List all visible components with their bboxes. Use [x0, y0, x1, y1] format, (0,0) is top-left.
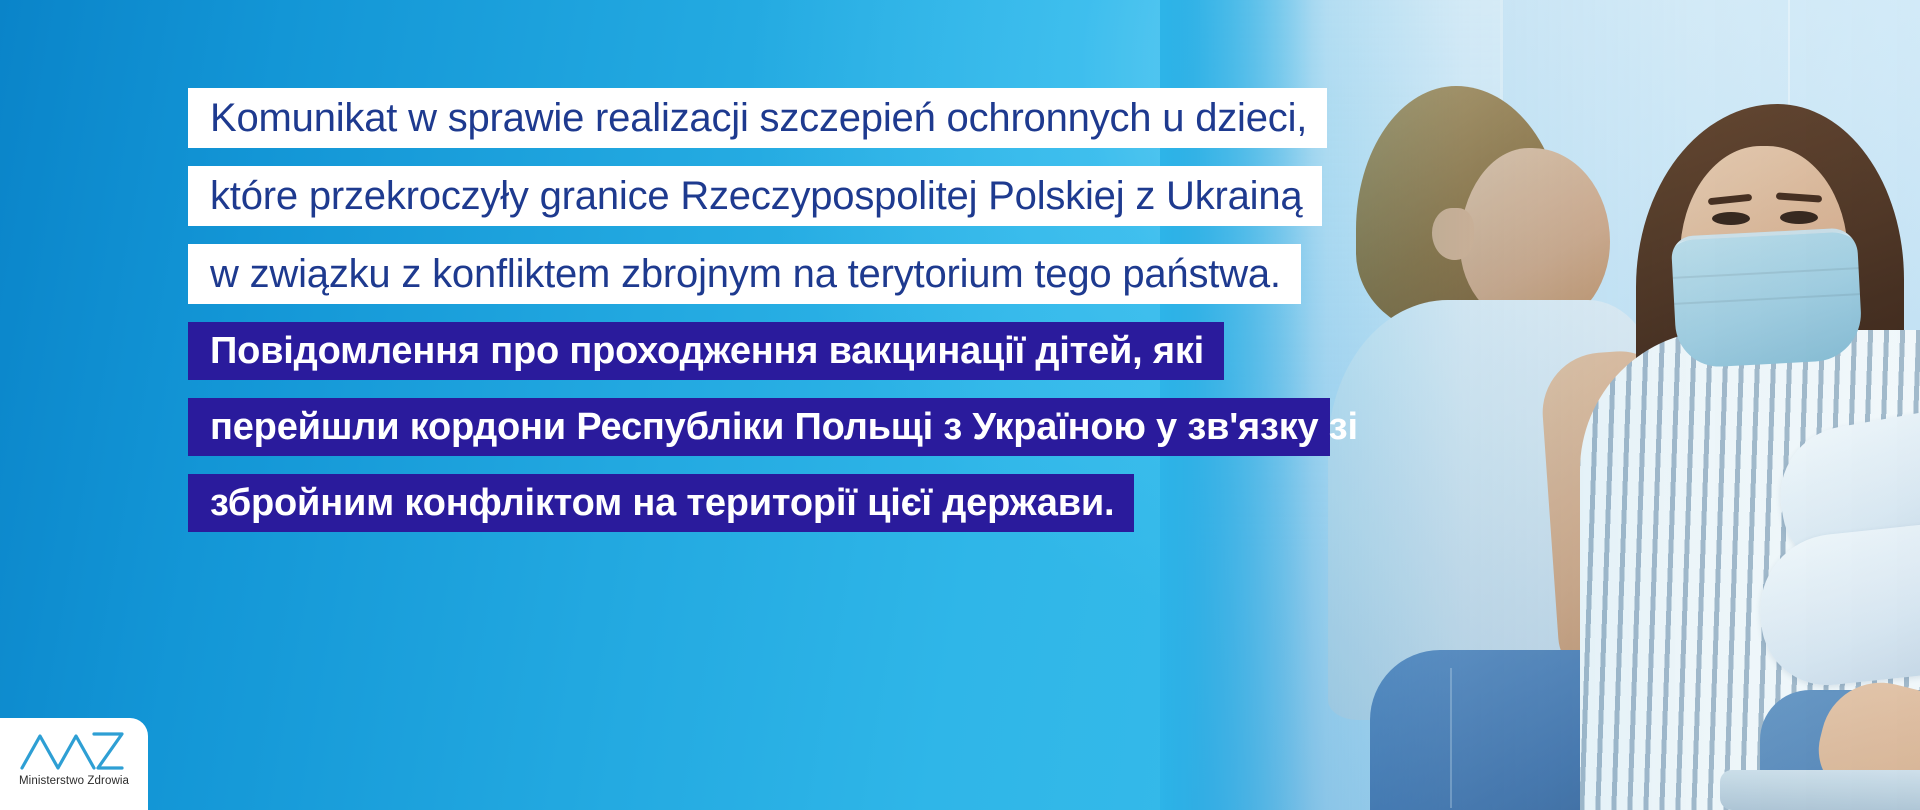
ukrainian-line-1: Повідомлення про проходження вакцинації …	[188, 322, 1224, 380]
announcement-text-block: Komunikat w sprawie realizacji szczepień…	[188, 88, 1308, 532]
ukrainian-line-3: збройним конфліктом на території цієї де…	[188, 474, 1134, 532]
polish-line-1: Komunikat w sprawie realizacji szczepień…	[188, 88, 1327, 148]
ukrainian-line-2: перейшли кордони Республіки Польщі з Укр…	[188, 398, 1330, 456]
vaccination-announcement-banner: Komunikat w sprawie realizacji szczepień…	[0, 0, 1920, 810]
polish-line-2: które przekroczyły granice Rzeczypospoli…	[188, 166, 1322, 226]
ministry-logo-card: Ministerstwo Zdrowia	[0, 718, 148, 810]
mz-logo-icon	[18, 728, 130, 772]
polish-line-3: w związku z konfliktem zbrojnym na teryt…	[188, 244, 1301, 304]
ministry-logo-caption: Ministerstwo Zdrowia	[19, 775, 129, 787]
